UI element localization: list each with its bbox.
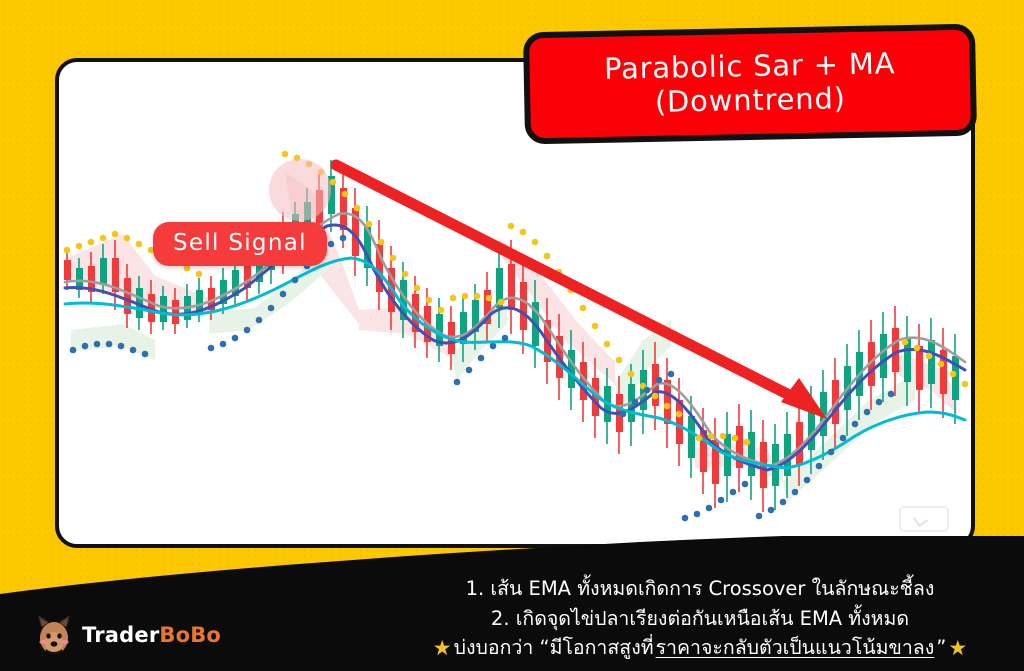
sell-signal-badge[interactable]: Sell Signal [153, 222, 327, 266]
note-line-2: 2. เกิดจุดไข่ปลาเรียงต่อกันเหนือเส้น EMA… [390, 604, 1010, 634]
brand-name: TraderBoBo [82, 623, 221, 647]
brand-name-trader: Trader [82, 623, 159, 647]
dog-head-icon [34, 613, 74, 657]
note-line-3-underline: ราคาจะกลับตัวเป็นแนวโน้มขาลง [656, 633, 935, 663]
title-line-1: Parabolic Sar + MA [604, 48, 896, 87]
star-left-icon: ★ [433, 638, 452, 659]
note-line-3-prefix: บ่งบอกว่า “มีโอกาสสูงที่ [454, 633, 654, 663]
bottom-banner: TraderBoBo 1. เส้น EMA ทั้งหมดเกิดการ Cr… [0, 536, 1024, 671]
brand-name-bobo: BoBo [159, 623, 221, 647]
brand[interactable]: TraderBoBo [34, 613, 221, 657]
title-badge: Parabolic Sar + MA (Downtrend) [523, 24, 977, 145]
sell-zone-highlight [269, 159, 331, 221]
chart-watermark-icon [899, 506, 949, 532]
poster-root: Sell Signal Parabolic Sar + MA (Downtren… [0, 0, 1024, 671]
sell-signal-label: Sell Signal [173, 230, 307, 256]
sar-bullish-dots [70, 235, 895, 522]
note-line-3-suffix: ” [936, 633, 946, 663]
note-line-3: ★ บ่งบอกว่า “มีโอกาสสูงที่ ราคาจะกลับตัว… [390, 633, 1010, 663]
title-line-2: (Downtrend) [655, 82, 847, 119]
notes-block: 1. เส้น EMA ทั้งหมดเกิดการ Crossover ในล… [390, 574, 1010, 663]
note-line-1: 1. เส้น EMA ทั้งหมดเกิดการ Crossover ในล… [390, 574, 1010, 604]
star-right-icon: ★ [948, 638, 967, 659]
